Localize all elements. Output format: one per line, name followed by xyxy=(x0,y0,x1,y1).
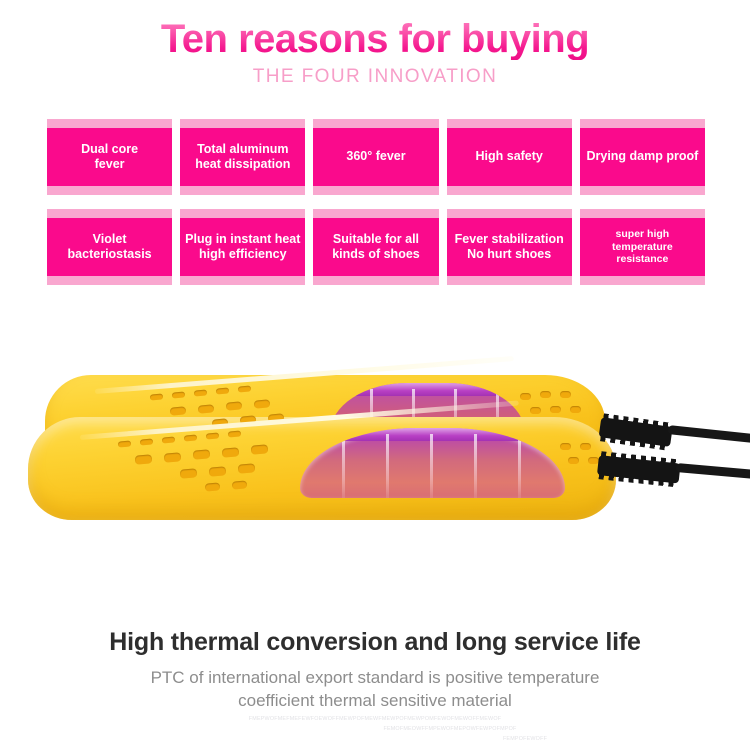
feature-box-inner: Violetbacteriostasis xyxy=(47,218,172,276)
heater-dome-front xyxy=(300,428,565,498)
feature-box: super high temperatureresistance xyxy=(580,209,705,285)
feature-box: Violetbacteriostasis xyxy=(47,209,172,285)
heater-fin xyxy=(474,434,477,498)
feature-box: Fever stabilizationNo hurt shoes xyxy=(447,209,572,285)
feature-label: Drying damp proof xyxy=(586,149,698,164)
heater-fin xyxy=(430,434,433,498)
feature-label: Fever stabilizationNo hurt shoes xyxy=(455,232,564,263)
heater-fin xyxy=(518,434,521,498)
power-cable xyxy=(668,425,750,443)
feature-box: Dual corefever xyxy=(47,119,172,195)
feature-box: High safety xyxy=(447,119,572,195)
feature-label: 360° fever xyxy=(346,149,405,164)
product-detail-page: Ten reasons for buying THE FOUR INNOVATI… xyxy=(0,0,750,750)
feature-label: Plug in instant heathigh efficiency xyxy=(185,232,300,263)
bottom-subtext-line1: PTC of international export standard is … xyxy=(0,666,750,689)
cord-strain-relief xyxy=(597,455,681,483)
feature-box-inner: Dual corefever xyxy=(47,128,172,186)
bottom-heading: High thermal conversion and long service… xyxy=(0,628,750,657)
power-cable xyxy=(676,463,750,479)
watermark-line: FMEPWOFMEFMEFEWFOEWOFFMEWPOFMEWFMEWPOFME… xyxy=(0,714,750,724)
feature-grid: Dual corefever Total aluminumheat dissip… xyxy=(47,119,705,285)
feature-box-inner: super high temperatureresistance xyxy=(580,218,705,276)
feature-label: Suitable for allkinds of shoes xyxy=(332,232,420,263)
page-title: Ten reasons for buying xyxy=(0,18,750,60)
watermark: FMEPWOFMEFMEFEWFOEWOFFMEWPOFMEWFMEWPOFME… xyxy=(0,714,750,744)
feature-box-inner: Suitable for allkinds of shoes xyxy=(313,218,438,276)
feature-box-inner: 360° fever xyxy=(313,128,438,186)
feature-box-inner: Drying damp proof xyxy=(580,128,705,186)
bottom-copy: High thermal conversion and long service… xyxy=(0,628,750,713)
cord-strain-relief xyxy=(599,417,673,447)
feature-box-inner: Fever stabilizationNo hurt shoes xyxy=(447,218,572,276)
watermark-line: FEMOFMEOWFFMPEWOFMEPOWFEWPOFMPOF xyxy=(0,724,750,734)
feature-box: Plug in instant heathigh efficiency xyxy=(180,209,305,285)
page-header: Ten reasons for buying THE FOUR INNOVATI… xyxy=(0,0,750,88)
page-subtitle: THE FOUR INNOVATION xyxy=(0,66,750,88)
watermark-line: FEMPOFEWOFF xyxy=(0,734,750,744)
feature-label: Violetbacteriostasis xyxy=(68,232,152,263)
feature-box: Suitable for allkinds of shoes xyxy=(313,209,438,285)
feature-label: Dual corefever xyxy=(81,142,138,173)
bottom-subtext-line2: coefficient thermal sensitive material xyxy=(0,689,750,712)
feature-box: Total aluminumheat dissipation xyxy=(180,119,305,195)
feature-label: super high temperatureresistance xyxy=(584,228,701,266)
feature-label: High safety xyxy=(476,149,543,164)
feature-label: Total aluminumheat dissipation xyxy=(195,142,290,173)
feature-box: 360° fever xyxy=(313,119,438,195)
feature-box-inner: High safety xyxy=(447,128,572,186)
product-image xyxy=(0,355,750,585)
feature-box: Drying damp proof xyxy=(580,119,705,195)
heater-fin xyxy=(386,434,389,498)
feature-box-inner: Plug in instant heathigh efficiency xyxy=(180,218,305,276)
heater-fin xyxy=(342,434,345,498)
feature-box-inner: Total aluminumheat dissipation xyxy=(180,128,305,186)
